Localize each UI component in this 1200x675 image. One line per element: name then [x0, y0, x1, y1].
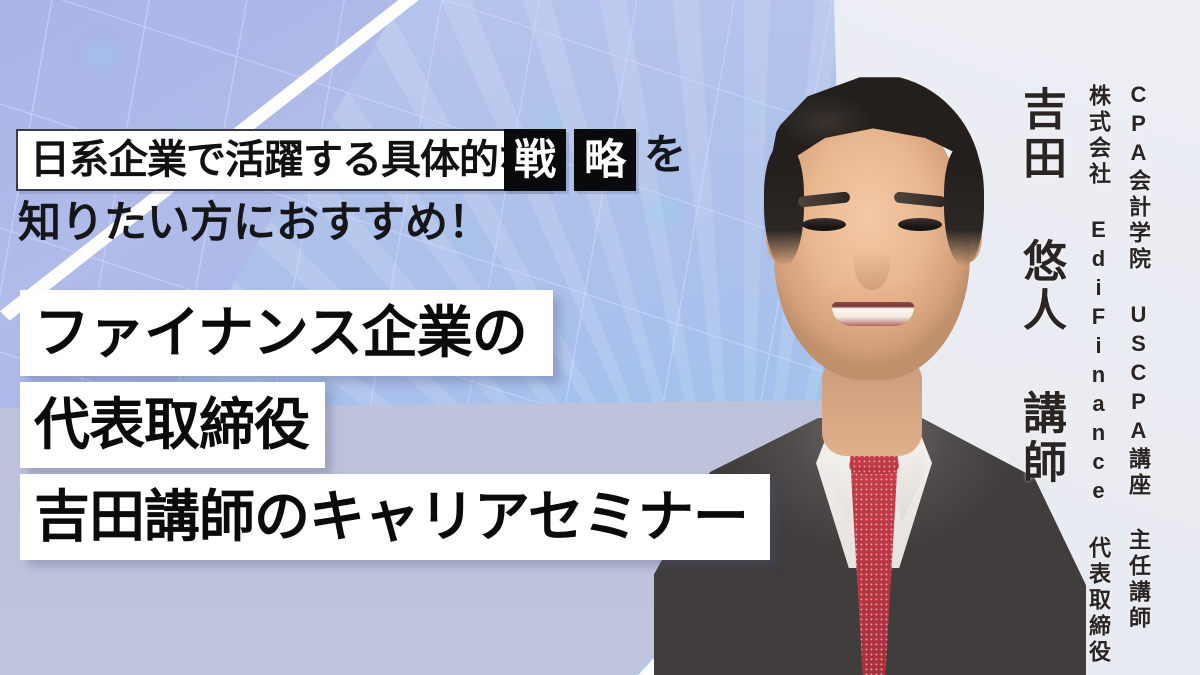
highlight-box-senryaku-1: 戦	[504, 129, 566, 191]
title-line-3: 吉田講師のキャリアセミナー	[20, 474, 770, 560]
kicker-boxed-phrase: 日系企業で活躍する具体的な	[16, 129, 551, 191]
title-line-3-text: 吉田講師のキャリアセミナー	[34, 489, 748, 545]
kicker-boxed-phrase-text: 日系企業で活躍する具体的な	[30, 140, 537, 180]
speaker-name: 吉田 悠人 講師	[1008, 86, 1072, 488]
glow-dot	[88, 42, 114, 68]
portrait-smile	[832, 302, 914, 326]
title-line-2-text: 代表取締役	[34, 397, 309, 453]
highlight-char-2: 略	[584, 139, 626, 181]
portrait-eye-left	[802, 218, 846, 231]
kicker-particle: を	[644, 134, 686, 176]
title-line-1: ファイナンス企業の	[20, 290, 553, 376]
highlight-char-1: 戦	[514, 139, 556, 181]
kicker-line-2: 知りたい方におすすめ！	[18, 202, 491, 245]
speaker-affiliation-role: CPA会計学院 USCPA講座 主任講師	[1122, 82, 1154, 632]
title-line-2: 代表取締役	[20, 382, 325, 468]
highlight-box-senryaku-2: 略	[574, 129, 636, 191]
portrait-eye-right	[898, 218, 942, 231]
seminar-banner: 日系企業で活躍する具体的な 戦 略 を 知りたい方におすすめ！ ファイナンス企業…	[0, 0, 1200, 675]
title-line-1-text: ファイナンス企業の	[34, 305, 527, 361]
speaker-company-role: 株式会社 EdiFinance 代表取締役	[1082, 84, 1114, 666]
